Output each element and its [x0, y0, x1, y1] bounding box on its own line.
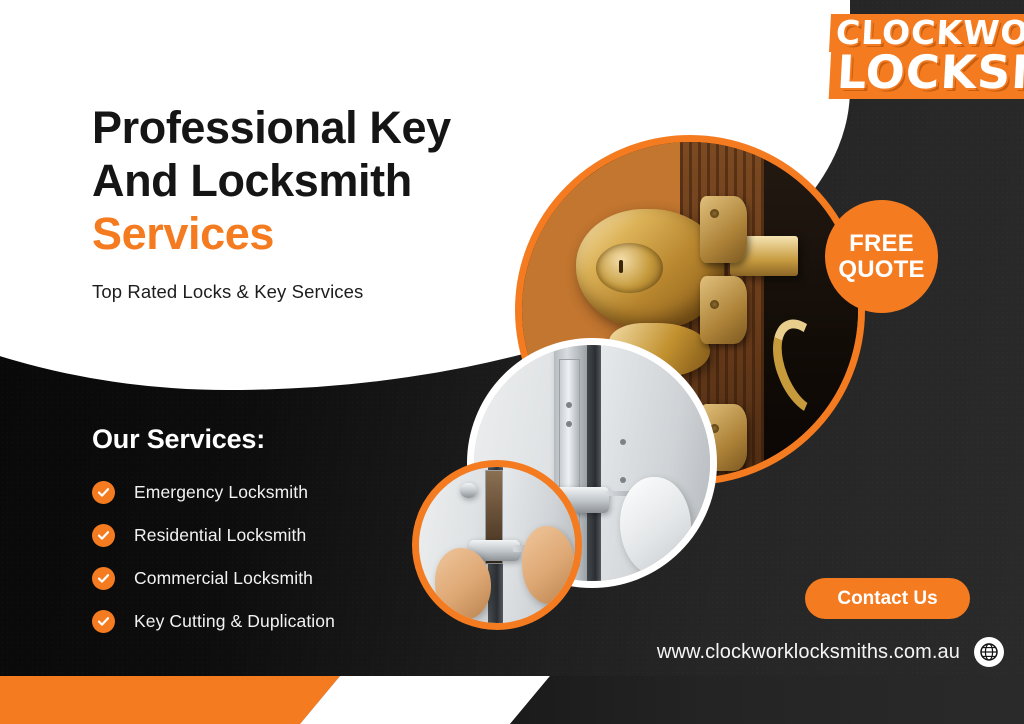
hand-left: [435, 548, 491, 620]
gloved-hand-right: [620, 477, 691, 576]
strike-plate: [700, 276, 747, 343]
website-row[interactable]: www.clockworklocksmiths.com.au: [657, 637, 1004, 667]
badge-line-2: QUOTE: [838, 257, 924, 283]
headline-line-2: And Locksmith: [92, 155, 412, 206]
keyhole: [619, 260, 623, 273]
service-label: Key Cutting & Duplication: [134, 611, 335, 632]
check-circle-icon: [92, 524, 115, 547]
service-label: Commercial Locksmith: [134, 568, 313, 589]
check-circle-icon: [92, 481, 115, 504]
services-heading: Our Services:: [92, 424, 335, 455]
page-title: Professional Key And Locksmith Services: [92, 101, 562, 260]
badge-line-1: FREE: [849, 231, 914, 257]
check-circle-icon: [92, 567, 115, 590]
door-shadow-gap: [764, 142, 858, 478]
brass-cylinder: [596, 243, 663, 293]
faceplate-screw: [566, 402, 572, 408]
headline-line-1: Professional Key: [92, 102, 451, 153]
free-quote-badge[interactable]: FREE QUOTE: [825, 200, 938, 313]
list-item: Residential Locksmith: [92, 524, 335, 547]
service-label: Residential Locksmith: [134, 525, 306, 546]
footer-band-white: [300, 676, 550, 724]
screw: [710, 300, 719, 309]
footer-band-dark: [500, 676, 1024, 724]
service-label: Emergency Locksmith: [134, 482, 308, 503]
footer-band-orange: [0, 676, 360, 724]
headline-subtitle: Top Rated Locks & Key Services: [92, 281, 562, 303]
headline-block: Professional Key And Locksmith Services …: [92, 101, 562, 303]
list-item: Emergency Locksmith: [92, 481, 335, 504]
check-circle-icon: [92, 610, 115, 633]
door-gap-shadow: [587, 345, 601, 581]
list-item: Key Cutting & Duplication: [92, 610, 335, 633]
globe-icon: [974, 637, 1004, 667]
logo-line-locksmiths: LOCKSMITHS: [829, 48, 1024, 99]
headline-line-3-accent: Services: [92, 208, 274, 259]
list-item: Commercial Locksmith: [92, 567, 335, 590]
photo-artwork: [419, 467, 575, 623]
strike-plate: [700, 196, 747, 263]
contact-us-button[interactable]: Contact Us: [805, 578, 970, 619]
poster-canvas: CLOCKWORK LOCKSMITHS Professional Key An…: [0, 0, 1024, 724]
hands-installing-cylinder-lock-photo: [412, 460, 582, 630]
door-knob-stub: [460, 483, 477, 499]
website-url[interactable]: www.clockworklocksmiths.com.au: [657, 641, 960, 664]
faceplate-screw: [566, 421, 572, 427]
brand-logo: CLOCKWORK LOCKSMITHS: [830, 14, 1002, 99]
hand-right: [522, 526, 575, 604]
services-block: Our Services: Emergency Locksmith Reside…: [92, 424, 335, 653]
